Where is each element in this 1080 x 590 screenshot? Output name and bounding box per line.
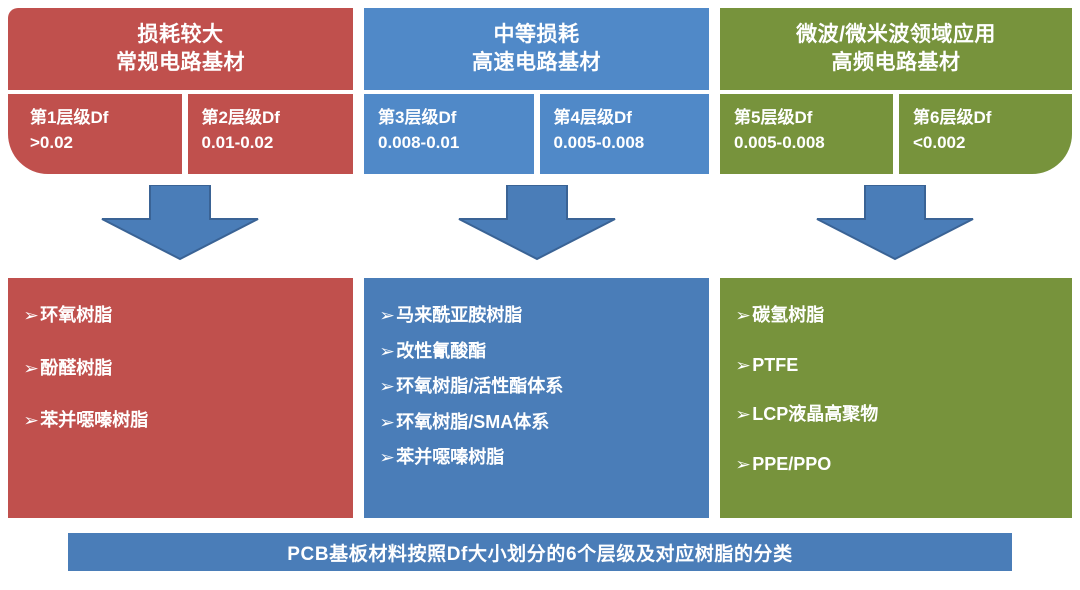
resin-label: 环氧树脂/活性酯体系 xyxy=(396,375,563,398)
diagram-canvas: 损耗较大 常规电路基材 第1层级Df >0.02 第2层级Df 0.01-0.0… xyxy=(0,0,1080,590)
df-level-value-1: >0.02 xyxy=(30,131,182,156)
list-item[interactable]: ➢ 环氧树脂 xyxy=(24,304,337,327)
group-header-medium-loss: 中等损耗 高速电路基材 第3层级Df 0.008-0.01 第4层级Df 0.0… xyxy=(364,8,709,174)
df-level-name-6: 第6层级Df xyxy=(913,106,1072,131)
caption-text: PCB基板材料按照Df大小划分的6个层级及对应树脂的分类 xyxy=(287,539,793,566)
resin-label: 碳氢树脂 xyxy=(752,304,824,327)
df-level-name-5: 第5层级Df xyxy=(734,106,893,131)
df-level-name-4: 第4层级Df xyxy=(554,106,710,131)
group-title-line2: 常规电路基材 xyxy=(116,49,245,77)
group-title-line1: 微波/微米波领域应用 xyxy=(796,21,996,49)
group-title-microwave: 微波/微米波领域应用 高频电路基材 xyxy=(720,8,1072,90)
resin-label: 环氧树脂/SMA体系 xyxy=(396,411,549,434)
list-item[interactable]: ➢ PTFE xyxy=(736,354,1056,377)
resin-label: 环氧树脂 xyxy=(40,304,112,327)
resin-label: 苯并噁嗪树脂 xyxy=(40,409,148,432)
df-level-cell-5[interactable]: 第5层级Df 0.005-0.008 xyxy=(720,94,893,174)
df-level-value-2: 0.01-0.02 xyxy=(202,131,354,156)
resin-panel-medium-loss: ➢ 马来酰亚胺树脂 ➢ 改性氰酸酯 ➢ 环氧树脂/活性酯体系 ➢ 环氧树脂/SM… xyxy=(364,278,709,518)
group-title-line1: 损耗较大 xyxy=(138,21,224,49)
list-item[interactable]: ➢ 环氧树脂/活性酯体系 xyxy=(380,375,693,398)
chevron-bullet-icon: ➢ xyxy=(23,358,39,379)
group-header-microwave: 微波/微米波领域应用 高频电路基材 第5层级Df 0.005-0.008 第6层… xyxy=(720,8,1072,174)
chevron-bullet-icon: ➢ xyxy=(23,305,39,326)
group-title-line2: 高速电路基材 xyxy=(472,49,601,77)
resin-panel-microwave: ➢ 碳氢树脂 ➢ PTFE ➢ LCP液晶高聚物 ➢ PPE/PPO xyxy=(720,278,1072,518)
resin-list-high-loss: ➢ 环氧树脂 ➢ 酚醛树脂 ➢ 苯并噁嗪树脂 xyxy=(24,304,337,432)
chevron-bullet-icon: ➢ xyxy=(23,410,39,431)
list-item[interactable]: ➢ 环氧树脂/SMA体系 xyxy=(380,411,693,434)
resin-label: 马来酰亚胺树脂 xyxy=(396,304,522,327)
df-level-row-microwave: 第5层级Df 0.005-0.008 第6层级Df <0.002 xyxy=(720,94,1072,174)
df-level-cell-6[interactable]: 第6层级Df <0.002 xyxy=(899,94,1072,174)
df-level-name-3: 第3层级Df xyxy=(378,106,534,131)
chevron-bullet-icon: ➢ xyxy=(735,404,751,425)
resin-panel-high-loss: ➢ 环氧树脂 ➢ 酚醛树脂 ➢ 苯并噁嗪树脂 xyxy=(8,278,353,518)
chevron-bullet-icon: ➢ xyxy=(735,454,751,475)
df-level-value-4: 0.005-0.008 xyxy=(554,131,710,156)
group-title-line2: 高频电路基材 xyxy=(832,49,961,77)
group-title-line1: 中等损耗 xyxy=(494,21,580,49)
resin-label: 苯并噁嗪树脂 xyxy=(396,446,504,469)
chevron-bullet-icon: ➢ xyxy=(379,376,395,397)
chevron-bullet-icon: ➢ xyxy=(735,355,751,376)
df-level-value-3: 0.008-0.01 xyxy=(378,131,534,156)
group-header-high-loss: 损耗较大 常规电路基材 第1层级Df >0.02 第2层级Df 0.01-0.0… xyxy=(8,8,353,174)
resin-label: PPE/PPO xyxy=(752,453,831,476)
df-level-name-2: 第2层级Df xyxy=(202,106,354,131)
list-item[interactable]: ➢ 酚醛树脂 xyxy=(24,357,337,380)
df-level-row-high-loss: 第1层级Df >0.02 第2层级Df 0.01-0.02 xyxy=(8,94,353,174)
down-arrow-microwave xyxy=(815,185,975,261)
df-level-cell-1[interactable]: 第1层级Df >0.02 xyxy=(8,94,182,174)
resin-label: LCP液晶高聚物 xyxy=(752,403,878,426)
chevron-bullet-icon: ➢ xyxy=(379,341,395,362)
down-arrow-medium-loss xyxy=(457,185,617,261)
chevron-bullet-icon: ➢ xyxy=(379,412,395,433)
df-level-cell-3[interactable]: 第3层级Df 0.008-0.01 xyxy=(364,94,534,174)
down-arrow-high-loss xyxy=(100,185,260,261)
resin-list-microwave: ➢ 碳氢树脂 ➢ PTFE ➢ LCP液晶高聚物 ➢ PPE/PPO xyxy=(736,304,1056,475)
resin-list-medium-loss: ➢ 马来酰亚胺树脂 ➢ 改性氰酸酯 ➢ 环氧树脂/活性酯体系 ➢ 环氧树脂/SM… xyxy=(380,304,693,469)
resin-label: 酚醛树脂 xyxy=(40,357,112,380)
group-title-high-loss: 损耗较大 常规电路基材 xyxy=(8,8,353,90)
list-item[interactable]: ➢ 苯并噁嗪树脂 xyxy=(380,446,693,469)
df-level-cell-2[interactable]: 第2层级Df 0.01-0.02 xyxy=(188,94,354,174)
list-item[interactable]: ➢ 碳氢树脂 xyxy=(736,304,1056,327)
resin-label: PTFE xyxy=(752,354,798,377)
df-level-value-6: <0.002 xyxy=(913,131,1072,156)
chevron-bullet-icon: ➢ xyxy=(379,447,395,468)
list-item[interactable]: ➢ 马来酰亚胺树脂 xyxy=(380,304,693,327)
list-item[interactable]: ➢ 改性氰酸酯 xyxy=(380,340,693,363)
chevron-bullet-icon: ➢ xyxy=(735,305,751,326)
df-level-row-medium-loss: 第3层级Df 0.008-0.01 第4层级Df 0.005-0.008 xyxy=(364,94,709,174)
chevron-bullet-icon: ➢ xyxy=(379,305,395,326)
list-item[interactable]: ➢ 苯并噁嗪树脂 xyxy=(24,409,337,432)
group-title-medium-loss: 中等损耗 高速电路基材 xyxy=(364,8,709,90)
df-level-value-5: 0.005-0.008 xyxy=(734,131,893,156)
df-level-cell-4[interactable]: 第4层级Df 0.005-0.008 xyxy=(540,94,710,174)
resin-label: 改性氰酸酯 xyxy=(396,340,486,363)
list-item[interactable]: ➢ LCP液晶高聚物 xyxy=(736,403,1056,426)
list-item[interactable]: ➢ PPE/PPO xyxy=(736,453,1056,476)
df-level-name-1: 第1层级Df xyxy=(30,106,182,131)
caption-banner: PCB基板材料按照Df大小划分的6个层级及对应树脂的分类 xyxy=(68,533,1012,571)
